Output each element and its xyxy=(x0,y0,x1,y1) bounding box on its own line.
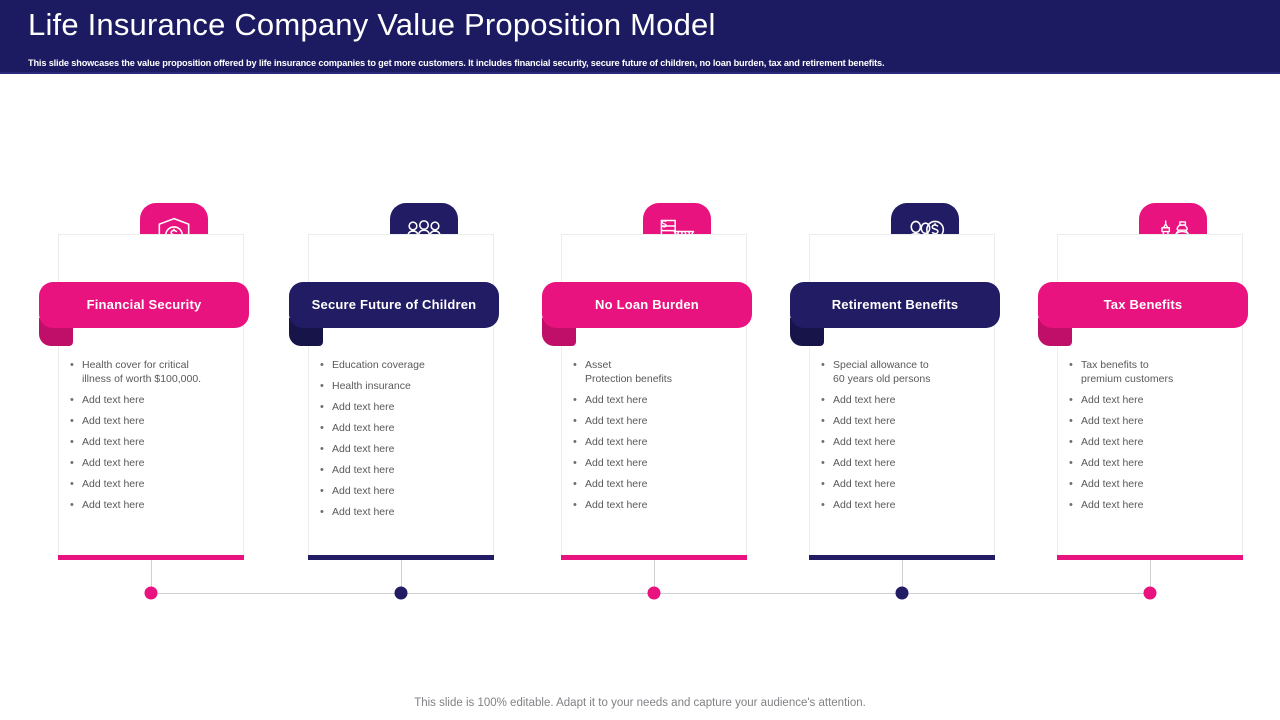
bullet-marker-icon: • xyxy=(318,463,332,477)
bullet-marker-icon: • xyxy=(571,358,585,372)
bullet-text: Add text here xyxy=(1081,414,1143,428)
card-title-ribbon: Secure Future of Children xyxy=(289,282,499,328)
bullet-marker-icon: • xyxy=(819,358,833,372)
bullet-text: Add text here xyxy=(833,456,895,470)
bullet-marker-icon: • xyxy=(318,484,332,498)
bullet-marker-icon: • xyxy=(819,456,833,470)
bullet-item: •Add text here xyxy=(571,477,747,491)
bullet-item: •Add text here xyxy=(571,393,747,407)
ribbon-body: Tax Benefits xyxy=(1038,282,1248,328)
bullet-marker-icon: • xyxy=(819,393,833,407)
bullet-marker-icon: • xyxy=(68,358,82,372)
bullet-text: Add text here xyxy=(82,435,144,449)
bullet-marker-icon: • xyxy=(318,505,332,519)
bullet-item: •Add text here xyxy=(819,435,995,449)
bullet-marker-icon: • xyxy=(1067,393,1081,407)
bullet-marker-icon: • xyxy=(68,414,82,428)
timeline-dot-secure-future-of-children xyxy=(395,587,408,600)
footer-note: This slide is 100% editable. Adapt it to… xyxy=(0,697,1280,709)
bullet-text: Add text here xyxy=(332,442,394,456)
bullet-marker-icon: • xyxy=(318,400,332,414)
bullet-marker-icon: • xyxy=(1067,435,1081,449)
timeline-dot-tax-benefits xyxy=(1144,587,1157,600)
ribbon-body: Retirement Benefits xyxy=(790,282,1000,328)
bullet-marker-icon: • xyxy=(819,498,833,512)
bullet-marker-icon: • xyxy=(1067,358,1081,372)
ribbon-body: Financial Security xyxy=(39,282,249,328)
bullet-item: •Add text here xyxy=(318,400,494,414)
card-title-ribbon: Financial Security xyxy=(39,282,249,328)
bullet-item: •Add text here xyxy=(68,435,244,449)
bullet-text: Add text here xyxy=(585,393,647,407)
bullet-item: •Add text here xyxy=(318,484,494,498)
bullet-item: •Add text here xyxy=(318,463,494,477)
bullet-text: Health cover for critical illness of wor… xyxy=(82,358,201,386)
bullet-item: •Add text here xyxy=(819,498,995,512)
bullet-text: Add text here xyxy=(332,505,394,519)
card-title-ribbon: Retirement Benefits xyxy=(790,282,1000,328)
bullet-text: Add text here xyxy=(1081,498,1143,512)
bullet-text: Add text here xyxy=(82,414,144,428)
bullet-item: •Add text here xyxy=(1067,435,1243,449)
bullet-text: Add text here xyxy=(585,435,647,449)
bullet-marker-icon: • xyxy=(1067,477,1081,491)
bullet-item: •Add text here xyxy=(68,393,244,407)
slide-canvas: Life Insurance Company Value Proposition… xyxy=(0,0,1280,720)
card-bullet-list: •Health cover for critical illness of wo… xyxy=(68,358,244,519)
card-title: No Loan Burden xyxy=(595,297,699,313)
bullet-text: Add text here xyxy=(833,414,895,428)
bullet-item: •Add text here xyxy=(1067,477,1243,491)
bullet-text: Add text here xyxy=(833,498,895,512)
bullet-text: Add text here xyxy=(332,484,394,498)
bullet-item: •Add text here xyxy=(318,421,494,435)
bullet-item: •Add text here xyxy=(819,393,995,407)
card-title: Tax Benefits xyxy=(1104,297,1183,313)
bullet-item: •Tax benefits to premium customers xyxy=(1067,358,1243,386)
bullet-marker-icon: • xyxy=(68,456,82,470)
bullet-text: Add text here xyxy=(1081,435,1143,449)
bullet-marker-icon: • xyxy=(571,456,585,470)
card-title-ribbon: Tax Benefits xyxy=(1038,282,1248,328)
bullet-item: •Add text here xyxy=(68,477,244,491)
bullet-item: •Add text here xyxy=(819,477,995,491)
bullet-item: •Health cover for critical illness of wo… xyxy=(68,358,244,386)
timeline-dot-no-loan-burden xyxy=(648,587,661,600)
card-title: Secure Future of Children xyxy=(312,297,477,313)
bullet-text: Tax benefits to premium customers xyxy=(1081,358,1173,386)
value-proposition-cards: Financial Security•Health cover for crit… xyxy=(0,0,1280,720)
timeline-dot-financial-security xyxy=(145,587,158,600)
bullet-marker-icon: • xyxy=(571,435,585,449)
bullet-text: Add text here xyxy=(332,421,394,435)
card-bullet-list: •Tax benefits to premium customers•Add t… xyxy=(1067,358,1243,519)
card-title-ribbon: No Loan Burden xyxy=(542,282,752,328)
bullet-marker-icon: • xyxy=(68,393,82,407)
bullet-text: Add text here xyxy=(833,435,895,449)
bullet-item: •Add text here xyxy=(318,442,494,456)
bullet-text: Add text here xyxy=(1081,393,1143,407)
bullet-item: •Add text here xyxy=(819,456,995,470)
bullet-marker-icon: • xyxy=(571,477,585,491)
bullet-item: •Add text here xyxy=(571,498,747,512)
bullet-marker-icon: • xyxy=(571,498,585,512)
card-title: Financial Security xyxy=(87,297,202,313)
bullet-item: •Asset Protection benefits xyxy=(571,358,747,386)
bullet-text: Add text here xyxy=(585,414,647,428)
ribbon-body: Secure Future of Children xyxy=(289,282,499,328)
bullet-marker-icon: • xyxy=(318,442,332,456)
bullet-item: •Special allowance to 60 years old perso… xyxy=(819,358,995,386)
bullet-marker-icon: • xyxy=(68,477,82,491)
bullet-item: •Add text here xyxy=(1067,393,1243,407)
bullet-text: Add text here xyxy=(82,393,144,407)
bullet-text: Add text here xyxy=(82,498,144,512)
bullet-text: Add text here xyxy=(332,400,394,414)
bullet-item: •Add text here xyxy=(1067,498,1243,512)
timeline-dot-retirement-benefits xyxy=(896,587,909,600)
bullet-item: •Add text here xyxy=(1067,456,1243,470)
bullet-marker-icon: • xyxy=(68,498,82,512)
bullet-item: •Health insurance xyxy=(318,379,494,393)
bullet-item: •Add text here xyxy=(68,456,244,470)
bullet-text: Health insurance xyxy=(332,379,411,393)
bullet-item: •Add text here xyxy=(68,414,244,428)
bullet-marker-icon: • xyxy=(819,435,833,449)
bullet-item: •Add text here xyxy=(68,498,244,512)
bullet-text: Education coverage xyxy=(332,358,425,372)
bullet-marker-icon: • xyxy=(1067,414,1081,428)
bullet-marker-icon: • xyxy=(819,477,833,491)
bullet-marker-icon: • xyxy=(1067,498,1081,512)
bullet-text: Add text here xyxy=(833,393,895,407)
bullet-text: Add text here xyxy=(833,477,895,491)
bullet-marker-icon: • xyxy=(819,414,833,428)
bullet-marker-icon: • xyxy=(1067,456,1081,470)
bullet-text: Add text here xyxy=(82,477,144,491)
bullet-text: Add text here xyxy=(585,498,647,512)
card-bullet-list: •Asset Protection benefits•Add text here… xyxy=(571,358,747,519)
bullet-text: Add text here xyxy=(585,456,647,470)
card-bullet-list: •Special allowance to 60 years old perso… xyxy=(819,358,995,519)
bullet-marker-icon: • xyxy=(571,414,585,428)
bullet-item: •Add text here xyxy=(571,456,747,470)
bullet-marker-icon: • xyxy=(68,435,82,449)
bullet-item: •Add text here xyxy=(1067,414,1243,428)
bullet-marker-icon: • xyxy=(571,393,585,407)
bullet-text: Asset Protection benefits xyxy=(585,358,672,386)
bullet-item: •Add text here xyxy=(318,505,494,519)
bullet-item: •Add text here xyxy=(819,414,995,428)
bullet-item: •Add text here xyxy=(571,414,747,428)
bullet-item: •Add text here xyxy=(571,435,747,449)
bullet-text: Add text here xyxy=(1081,456,1143,470)
bullet-text: Special allowance to 60 years old person… xyxy=(833,358,930,386)
bullet-text: Add text here xyxy=(332,463,394,477)
bullet-text: Add text here xyxy=(1081,477,1143,491)
bullet-marker-icon: • xyxy=(318,358,332,372)
bullet-item: •Education coverage xyxy=(318,358,494,372)
card-bullet-list: •Education coverage•Health insurance•Add… xyxy=(318,358,494,526)
bullet-text: Add text here xyxy=(82,456,144,470)
card-title: Retirement Benefits xyxy=(832,297,959,313)
bullet-marker-icon: • xyxy=(318,379,332,393)
ribbon-body: No Loan Burden xyxy=(542,282,752,328)
bullet-text: Add text here xyxy=(585,477,647,491)
bullet-marker-icon: • xyxy=(318,421,332,435)
